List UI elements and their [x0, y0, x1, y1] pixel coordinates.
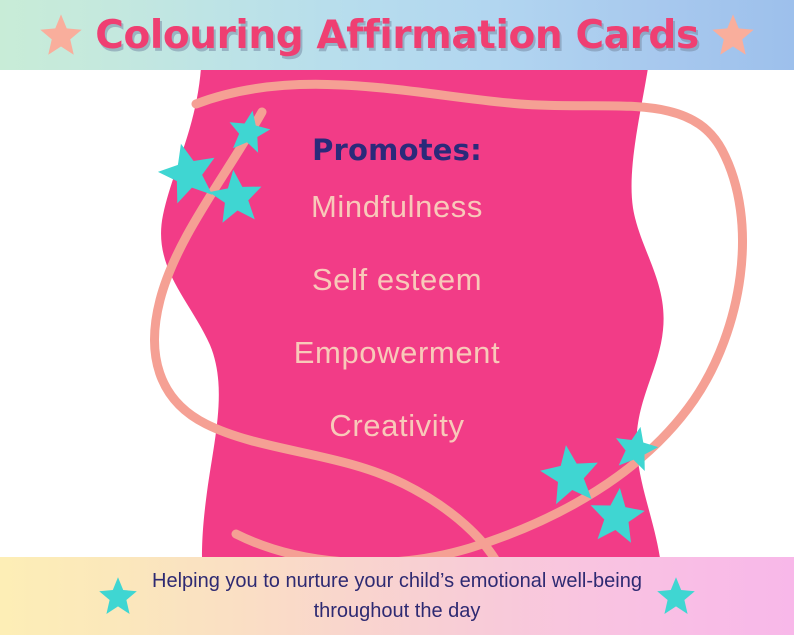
decorative-artwork — [0, 0, 794, 635]
footer-tagline-line-2: throughout the day — [152, 596, 642, 626]
poster-canvas: Colouring Affirmation Cards Promotes: Mi… — [0, 0, 794, 635]
footer-tagline-line-1: Helping you to nurture your child’s emot… — [152, 566, 642, 596]
star-icon — [39, 13, 83, 57]
footer-tagline: Helping you to nurture your child’s emot… — [152, 566, 642, 626]
star-icon — [656, 576, 696, 616]
footer-banner: Helping you to nurture your child’s emot… — [0, 557, 794, 635]
star-icon — [98, 576, 138, 616]
header-banner: Colouring Affirmation Cards — [0, 0, 794, 70]
star-icon — [711, 13, 755, 57]
page-title: Colouring Affirmation Cards — [95, 16, 699, 55]
